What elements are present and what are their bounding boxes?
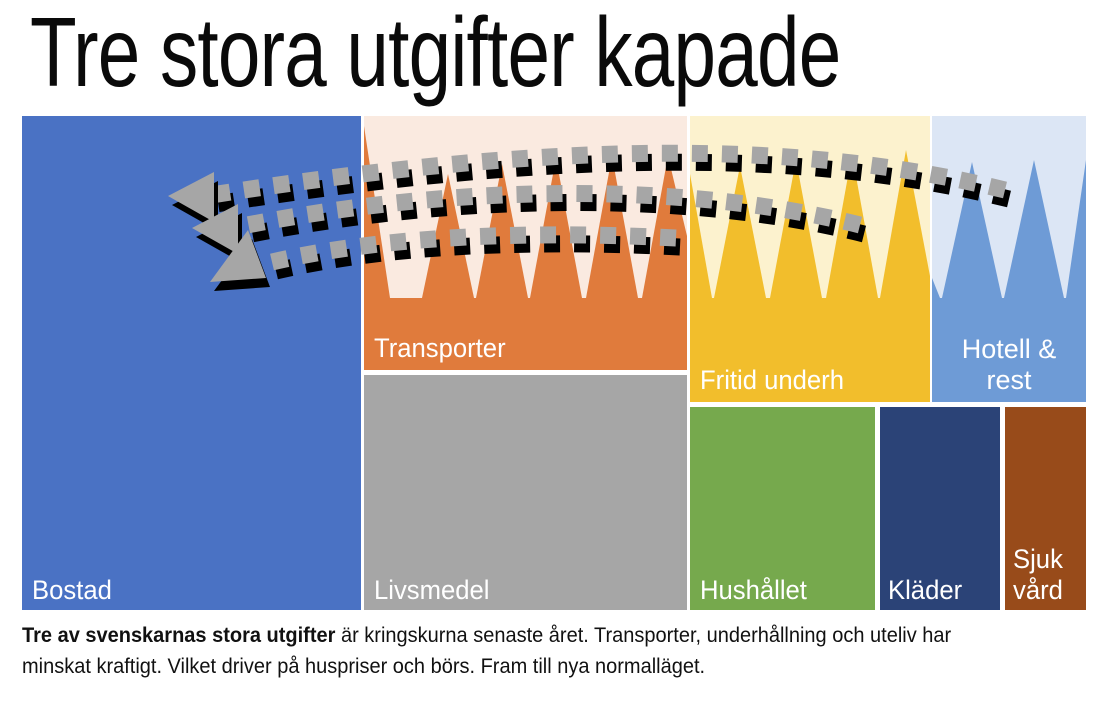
- treemap-tile-hotell[interactable]: Hotell & rest: [932, 116, 1086, 402]
- treemap-tile-fritid[interactable]: Fritid underh: [690, 116, 930, 402]
- treemap-tile-sjukvard[interactable]: Sjuk vård: [1005, 407, 1086, 610]
- tile-zigzag-transporter: [364, 116, 687, 298]
- caption: Tre av svenskarnas stora utgifter är kri…: [22, 620, 1017, 682]
- tile-label-livsmedel: Livsmedel: [374, 575, 489, 606]
- treemap-chart: Bostad Transporter Livsmedel: [22, 116, 1086, 610]
- tile-body-bostad: [22, 116, 361, 610]
- treemap-tile-hushallet[interactable]: Hushållet: [690, 407, 875, 610]
- treemap-tile-transporter[interactable]: Transporter: [364, 116, 687, 370]
- caption-lead: Tre av svenskarnas stora utgifter: [22, 623, 335, 647]
- tile-label-hotell: Hotell & rest: [932, 334, 1086, 396]
- tile-label-sjukvard: Sjuk vård: [1013, 544, 1063, 606]
- tile-zigzag-fritid: [690, 116, 930, 298]
- treemap-tile-bostad[interactable]: Bostad: [22, 116, 361, 610]
- tile-label-hushallet: Hushållet: [700, 575, 807, 606]
- tile-zigzag-hotell: [932, 116, 1086, 298]
- page-title: Tre stora utgifter kapade: [30, 0, 857, 108]
- tile-label-bostad: Bostad: [32, 575, 112, 606]
- infographic-root: Tre stora utgifter kapade Bostad Transpo…: [0, 0, 1108, 706]
- tile-label-transporter: Transporter: [374, 333, 506, 364]
- treemap-tile-livsmedel[interactable]: Livsmedel: [364, 375, 687, 610]
- treemap-tile-klader[interactable]: Kläder: [880, 407, 1000, 610]
- tile-label-klader: Kläder: [888, 575, 962, 606]
- tile-label-fritid: Fritid underh: [700, 365, 844, 396]
